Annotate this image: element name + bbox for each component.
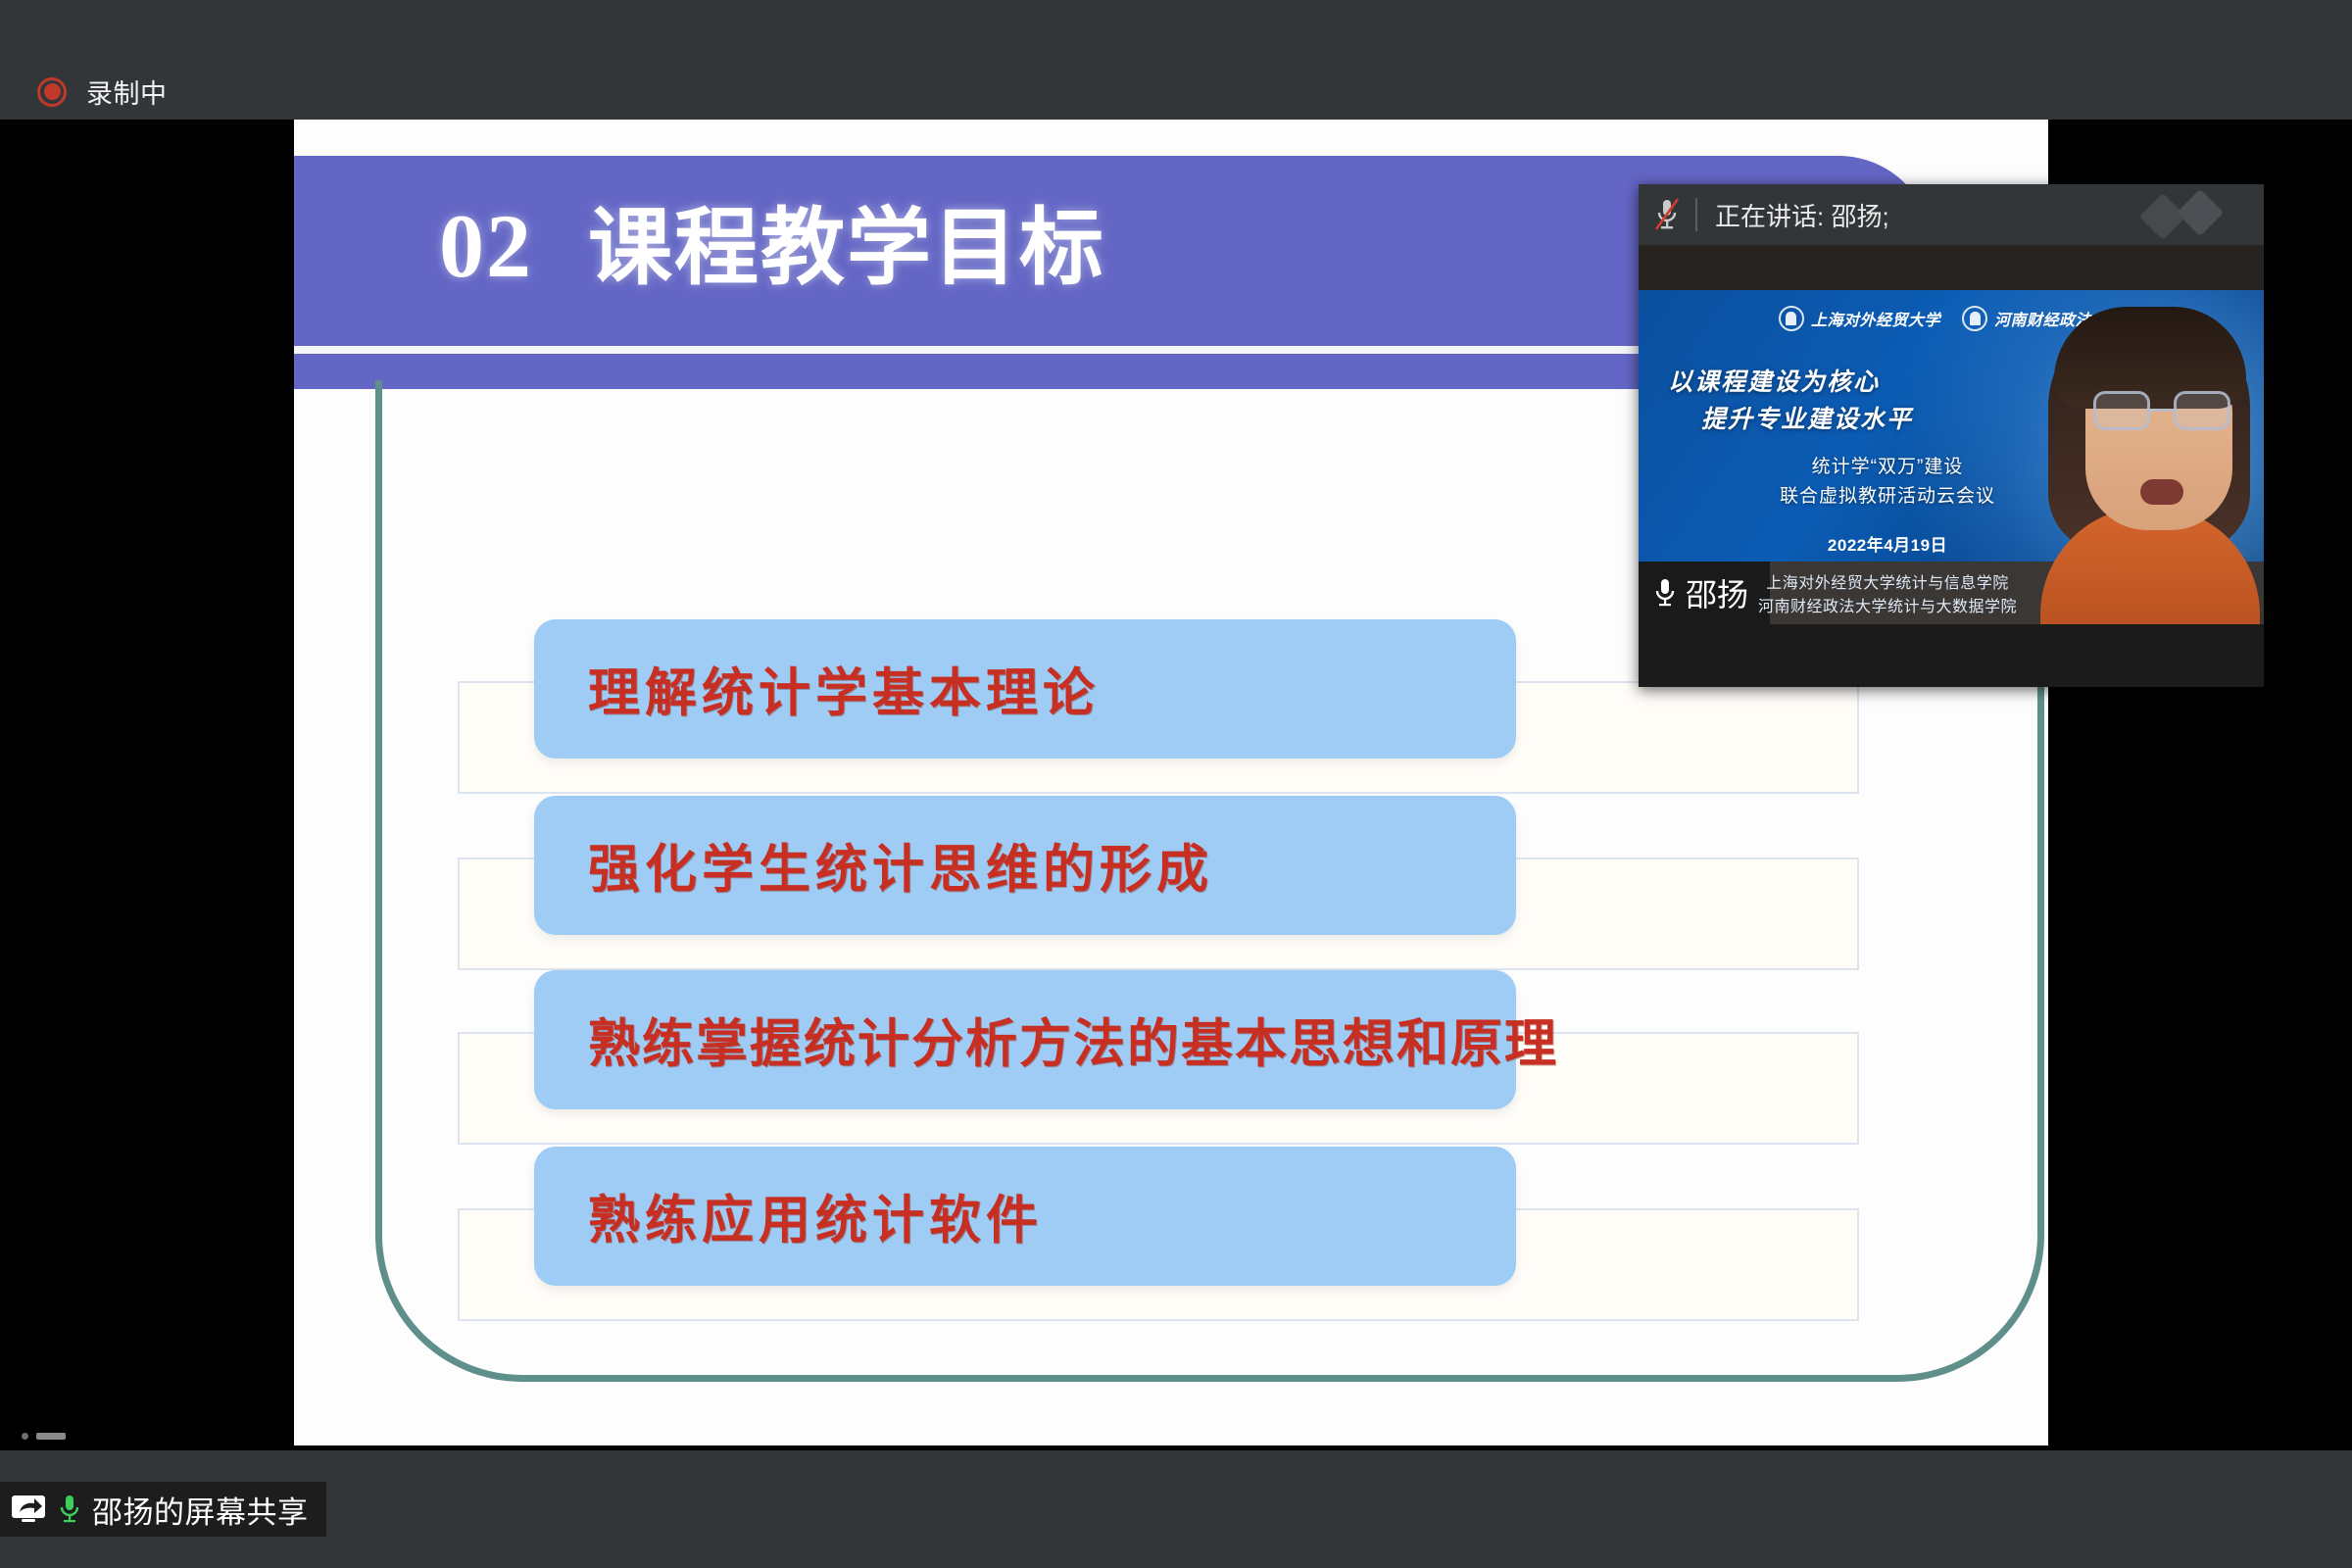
slide-goal-row: 熟练掌握统计分析方法的基本思想和原理 <box>294 970 1764 1147</box>
mic-muted-icon[interactable] <box>1639 184 1695 245</box>
goal-text: 熟练应用统计软件 <box>588 1179 1043 1253</box>
slide-goal-row: 熟练应用统计软件 <box>294 1147 1764 1323</box>
slide-goal-row: 强化学生统计思维的形成 <box>294 796 1764 972</box>
mic-on-green-icon <box>57 1493 82 1526</box>
recording-label: 录制中 <box>86 73 168 111</box>
record-dot-icon <box>37 77 67 107</box>
bottom-toolbar: 邵扬的屏幕共享 <box>0 1450 2352 1568</box>
zoom-meeting-window: 录制中 02课程教学目标 <box>0 0 2352 1568</box>
video-feed[interactable]: 上海对外经贸大学 河南财经政法大学 以课程建设为核心 提升专业建设水平 统计学“… <box>1639 245 2264 624</box>
screen-share-status[interactable]: 邵扬的屏幕共享 <box>0 1482 326 1537</box>
goal-text: 熟练掌握统计分析方法的基本思想和原理 <box>588 1003 1558 1077</box>
university-emblem-icon <box>1779 306 1804 331</box>
goal-chip: 强化学生统计思维的形成 <box>534 796 1516 935</box>
goal-chip: 理解统计学基本理论 <box>534 619 1516 759</box>
speaking-label: 正在讲话: 邵扬; <box>1715 197 1889 233</box>
vbg-logo-label: 上海对外经贸大学 <box>1811 307 1940 330</box>
recording-indicator[interactable]: 录制中 <box>37 73 168 111</box>
vbg-logo-item: 上海对外经贸大学 <box>1779 306 1940 331</box>
university-emblem-icon <box>1962 306 1987 331</box>
slide-goal-row: 理解统计学基本理论 <box>294 619 1764 796</box>
goal-chip: 熟练应用统计软件 <box>534 1147 1516 1286</box>
active-speaker-video-panel[interactable]: 正在讲话: 邵扬; 上海对外经贸大学 河南财经政法大学 <box>1639 184 2264 687</box>
goal-chip: 熟练掌握统计分析方法的基本思想和原理 <box>534 970 1516 1109</box>
video-panel-header[interactable]: 正在讲话: 邵扬; <box>1639 184 2264 245</box>
top-toolbar: 录制中 <box>0 0 2352 120</box>
header-divider <box>1695 198 1697 231</box>
video-letterbox <box>1639 245 2264 290</box>
vbg-headline-line2: 提升专业建设水平 <box>1701 402 1913 439</box>
vbg-headline: 以课程建设为核心 提升专业建设水平 <box>1668 365 1913 438</box>
screen-share-label: 邵扬的屏幕共享 <box>92 1488 309 1532</box>
double-chevron-icon[interactable] <box>2144 196 2238 233</box>
goal-text: 理解统计学基本理论 <box>588 652 1100 726</box>
screen-share-icon <box>10 1494 47 1525</box>
virtual-background: 上海对外经贸大学 河南财经政法大学 以课程建设为核心 提升专业建设水平 统计学“… <box>1639 290 2264 624</box>
goal-text: 强化学生统计思维的形成 <box>588 828 1213 903</box>
top-toolbar-right-region <box>1627 0 2352 120</box>
speaker-silhouette <box>2025 301 2264 624</box>
vbg-headline-line1: 以课程建设为核心 <box>1668 365 1913 402</box>
